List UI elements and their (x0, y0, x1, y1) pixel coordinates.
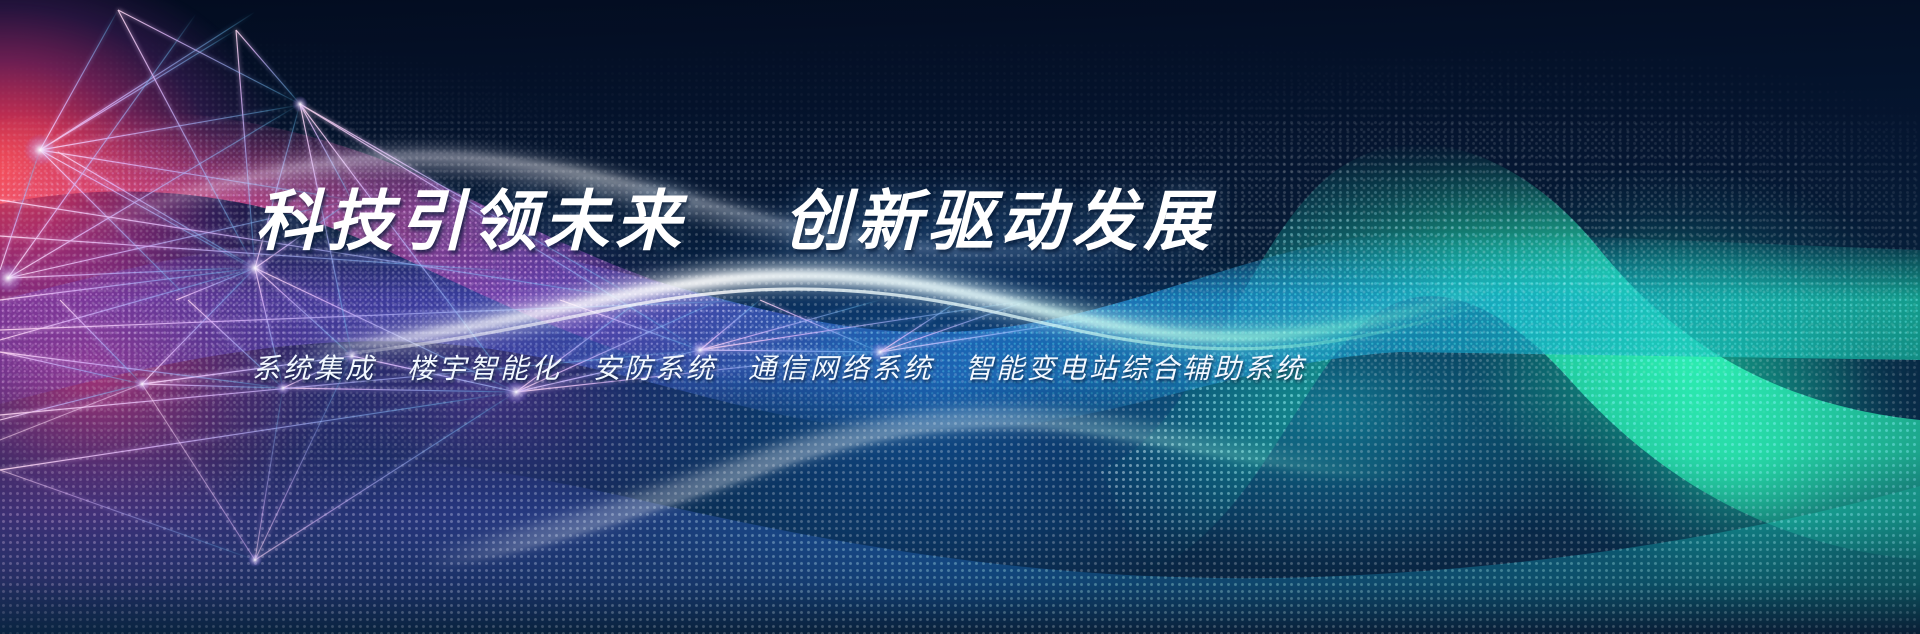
banner-subtitle: 系统集成 楼宇智能化 安防系统 通信网络系统 智能变电站综合辅助系统 (252, 347, 1306, 387)
hero-banner: 科技引领未来 创新驱动发展 系统集成 楼宇智能化 安防系统 通信网络系统 智能变… (0, 0, 1920, 634)
page-title: 科技引领未来 创新驱动发展 (255, 186, 1215, 257)
banner-text-block: 科技引领未来 创新驱动发展 系统集成 楼宇智能化 安防系统 通信网络系统 智能变… (0, 0, 1920, 634)
